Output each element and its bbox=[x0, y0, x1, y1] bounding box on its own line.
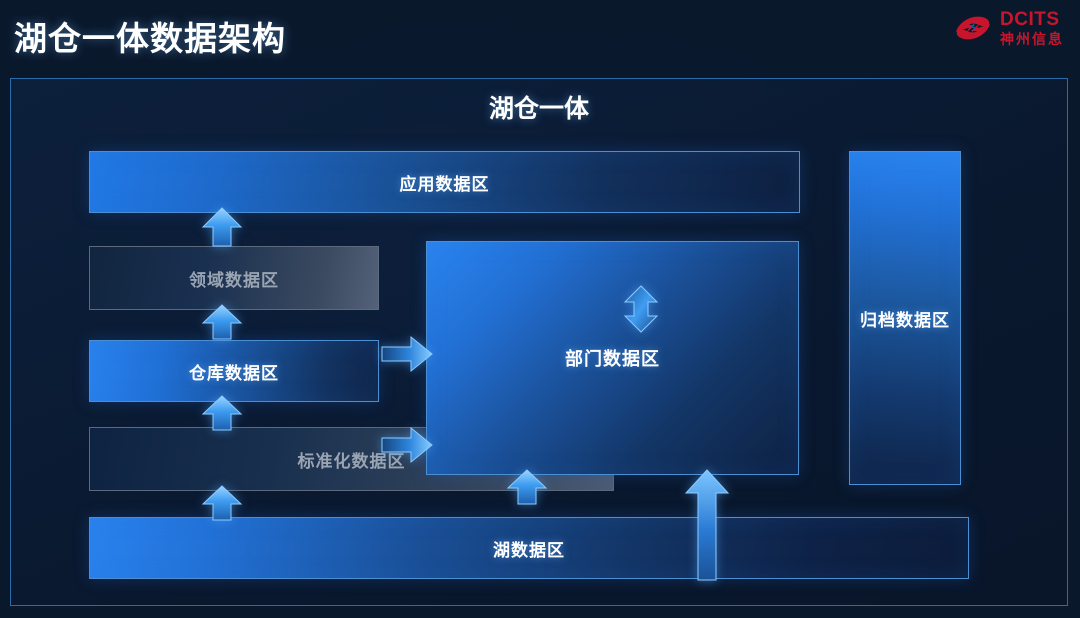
node-label: 领域数据区 bbox=[189, 266, 279, 291]
node-label: 湖数据区 bbox=[493, 536, 565, 561]
arrow-right-icon-domain-to-department bbox=[381, 335, 433, 373]
brand-name-en: DCITS bbox=[1000, 10, 1064, 29]
arrow-right-icon-warehouse-to-department bbox=[381, 426, 433, 464]
arrow-up-icon-standard-to-department bbox=[506, 469, 548, 505]
node-label: 部门数据区 bbox=[565, 345, 660, 371]
panel-title: 湖仓一体 bbox=[11, 89, 1067, 125]
page-title: 湖仓一体数据架构 bbox=[14, 12, 286, 60]
node-application-data-zone[interactable]: 应用数据区 bbox=[89, 151, 800, 213]
arrow-up-icon-domain-to-application bbox=[201, 207, 243, 247]
slide-root: 湖仓一体数据架构 DCITS 神州信息 湖仓一体 应用数据区 领域数据区 仓库数… bbox=[0, 0, 1080, 618]
arrow-up-icon-lake-to-standard bbox=[201, 485, 243, 521]
node-label: 仓库数据区 bbox=[189, 359, 279, 384]
arrow-up-long-icon-lake-to-department bbox=[684, 469, 730, 581]
diagram-panel: 湖仓一体 应用数据区 领域数据区 仓库数据区 标准化数据区 湖数据区 部门数据区… bbox=[10, 78, 1068, 606]
arrow-up-icon-warehouse-to-domain bbox=[201, 304, 243, 340]
arrow-bidirectional-icon-application-department bbox=[619, 285, 663, 333]
node-archive-data-zone[interactable]: 归档数据区 bbox=[849, 151, 961, 485]
node-domain-data-zone[interactable]: 领域数据区 bbox=[89, 246, 379, 310]
dcits-swirl-icon bbox=[953, 11, 993, 45]
node-label: 归档数据区 bbox=[860, 306, 950, 331]
node-label: 应用数据区 bbox=[400, 170, 490, 195]
brand-text: DCITS 神州信息 bbox=[1000, 10, 1064, 46]
node-department-data-zone[interactable]: 部门数据区 bbox=[426, 241, 799, 475]
node-lake-data-zone[interactable]: 湖数据区 bbox=[89, 517, 969, 579]
brand-name-cn: 神州信息 bbox=[1000, 32, 1064, 46]
brand-logo: DCITS 神州信息 bbox=[953, 10, 1064, 46]
arrow-up-icon-standard-to-warehouse bbox=[201, 395, 243, 431]
node-warehouse-data-zone[interactable]: 仓库数据区 bbox=[89, 340, 379, 402]
